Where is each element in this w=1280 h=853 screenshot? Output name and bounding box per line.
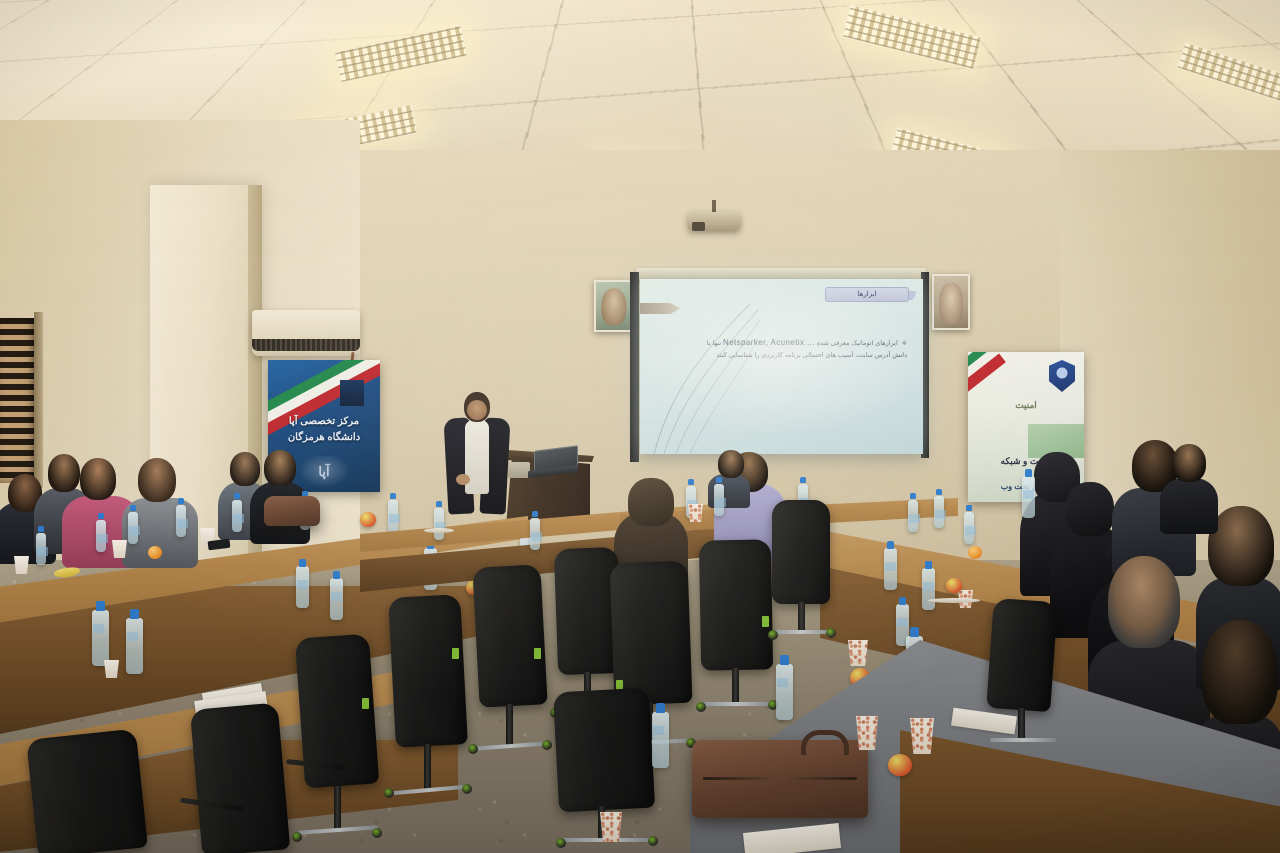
water-bottle <box>884 548 897 590</box>
attendee-head <box>138 458 176 502</box>
banner-left-line2: دانشگاه هرمزگان <box>268 432 380 443</box>
chair-post <box>424 744 431 790</box>
paper-cup <box>112 540 127 558</box>
chair-label-tag <box>362 698 369 709</box>
chair-post <box>506 704 513 746</box>
chair-backrest <box>986 598 1058 712</box>
slide-line1-before: ابزارهای اتوماتیک معرفی شده <box>817 340 898 347</box>
water-bottle <box>232 500 242 532</box>
attendee-torso <box>1160 478 1218 534</box>
projection-screen: ابزارها ❖ ابزارهای اتوماتیک معرفی شده Ne… <box>640 279 923 454</box>
presenter-speaker <box>440 392 518 522</box>
water-bottle <box>908 500 918 532</box>
water-bottle <box>714 484 724 516</box>
slide-body-text: ❖ ابزارهای اتوماتیک معرفی شده Netsparker… <box>658 335 907 363</box>
ac-vent <box>252 339 360 351</box>
organization-emblem-icon <box>1049 360 1075 392</box>
banner-right-line1: امنیت <box>968 400 1084 411</box>
chair-backrest <box>190 702 290 853</box>
orange <box>148 546 162 559</box>
chair-backrest <box>472 564 547 707</box>
leather-bag <box>264 496 320 526</box>
attendee-head-chador <box>1066 482 1114 536</box>
attendee-head-hijab <box>628 478 674 526</box>
banner-logo-block <box>340 380 364 406</box>
chair-caster <box>542 740 552 750</box>
attendee-head <box>80 458 116 500</box>
chair-backrest <box>553 688 655 813</box>
chair-caster <box>468 744 478 754</box>
attendee-right-man-4 <box>1160 444 1220 530</box>
slide-tool-names: Netsparker, Acunetix ... <box>723 335 815 350</box>
paper-cup <box>600 812 622 842</box>
water-bottle <box>776 664 793 720</box>
chair-caster <box>696 702 706 712</box>
paper-cup <box>104 660 119 678</box>
water-bottle <box>128 512 138 544</box>
chair-backrest <box>772 500 830 604</box>
slide-line1-after: تنها با <box>707 340 721 347</box>
chair-post <box>732 668 739 704</box>
framed-portrait-right <box>932 274 970 330</box>
screen-rail-left <box>630 272 639 462</box>
attendee-head <box>264 450 296 486</box>
paper-cup <box>910 718 934 754</box>
apple <box>360 512 376 527</box>
water-bottle <box>92 610 109 666</box>
chair-caster <box>826 628 836 638</box>
water-bottle <box>96 520 106 552</box>
presenter-hand <box>456 474 470 485</box>
chair-caster <box>372 828 382 838</box>
water-bottle <box>934 496 944 528</box>
window-blinds <box>0 318 36 483</box>
water-bottle <box>964 512 974 544</box>
attendee-head <box>718 450 744 478</box>
chair-base <box>990 738 1056 742</box>
chair-caster <box>556 838 566 848</box>
water-bottle <box>652 712 669 768</box>
chair-label-tag <box>762 616 769 627</box>
slide-line2: دانش آدرس سایت، آسیب های احتمالی برنامه … <box>716 352 907 359</box>
serving-plate <box>928 598 980 603</box>
bag-handle <box>801 730 849 755</box>
chair-caster <box>462 784 472 794</box>
attendee-head <box>1108 556 1180 648</box>
portrait-face <box>939 283 963 324</box>
water-bottle <box>922 568 935 610</box>
attendee-left-4 <box>122 458 200 564</box>
curve-lines-icon <box>640 304 760 454</box>
water-bottle <box>296 566 309 608</box>
leather-bag <box>692 740 868 818</box>
conference-room-photo: ابزارها ❖ ابزارهای اتوماتیک معرفی شده Ne… <box>0 0 1280 853</box>
chair-base <box>700 702 774 706</box>
paper-cup <box>848 640 868 666</box>
chair-caster <box>292 832 302 842</box>
water-bottle <box>1022 476 1035 518</box>
paper-cup <box>856 716 878 750</box>
slide-bullet-marker: ❖ <box>902 341 907 347</box>
water-bottle <box>36 533 46 565</box>
water-bottle <box>434 508 444 540</box>
presenter-shirt <box>465 420 489 494</box>
chair-backrest <box>699 539 773 670</box>
chair-caster <box>384 788 394 798</box>
portrait-face <box>601 288 626 325</box>
bag-zipper <box>703 777 858 780</box>
paper-cup <box>14 556 29 574</box>
apple <box>946 578 962 593</box>
chair-label-tag <box>534 648 541 659</box>
attendee-head <box>1172 444 1206 482</box>
water-bottle <box>176 505 186 537</box>
chair-post <box>798 602 805 632</box>
slide-title: ابزارها <box>825 287 909 302</box>
presenter-face <box>467 400 487 420</box>
water-bottle <box>126 618 143 674</box>
paper-cup <box>688 504 703 522</box>
apple <box>888 754 912 776</box>
serving-plate <box>424 528 454 533</box>
chair-caster <box>648 836 658 846</box>
chair-post <box>1018 708 1025 740</box>
orange <box>968 546 982 559</box>
chair-post <box>334 786 341 830</box>
water-bottle <box>330 578 343 620</box>
attendee-head <box>1202 620 1278 724</box>
water-bottle <box>388 500 398 532</box>
chair-label-tag <box>452 648 459 659</box>
slide-decorative-curves <box>640 304 760 454</box>
framed-portrait-left <box>594 280 634 332</box>
banner-left-line1: مرکز تخصصی آپا <box>268 416 380 427</box>
chair-base <box>772 630 832 634</box>
chair-caster <box>768 630 778 640</box>
chair-backrest <box>388 594 468 748</box>
chair-backrest <box>26 729 148 853</box>
water-bottle <box>530 518 540 550</box>
projector-lens-icon <box>692 222 705 231</box>
air-conditioner-unit <box>252 310 360 356</box>
